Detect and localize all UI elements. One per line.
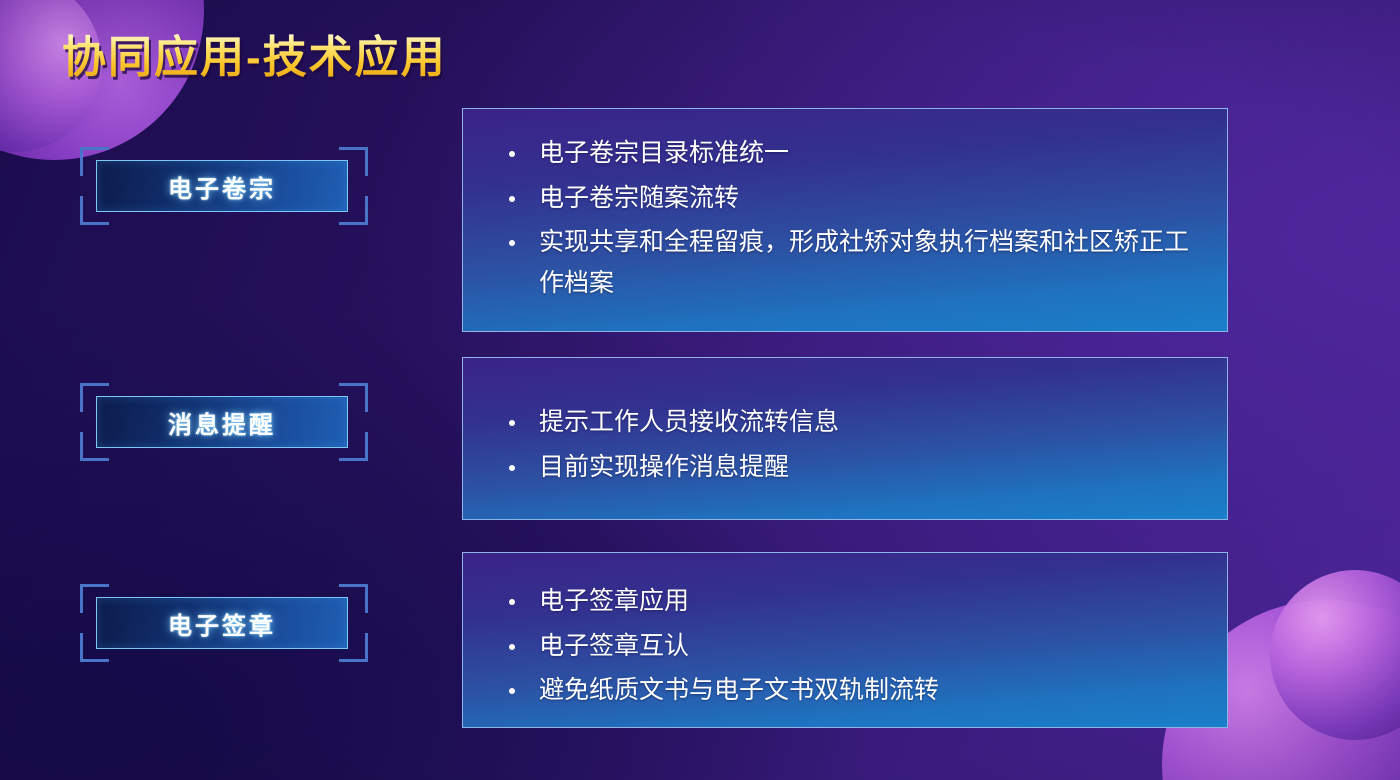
list-item: 避免纸质文书与电子文书双轨制流转	[503, 670, 1193, 711]
list-item: 实现共享和全程留痕，形成社矫对象执行档案和社区矫正工作档案	[503, 222, 1193, 303]
section-label-box: 消息提醒	[96, 396, 348, 448]
list-item: 电子签章互认	[503, 626, 1193, 667]
bullet-list: 提示工作人员接收流转信息 目前实现操作消息提醒	[503, 402, 1193, 487]
list-item: 电子签章应用	[503, 581, 1193, 622]
list-item: 电子卷宗目录标准统一	[503, 133, 1193, 174]
section-label-text: 电子卷宗	[168, 169, 276, 204]
bullet-list: 电子卷宗目录标准统一 电子卷宗随案流转 实现共享和全程留痕，形成社矫对象执行档案…	[503, 133, 1193, 303]
section-label-text: 电子签章	[168, 606, 276, 641]
list-item: 提示工作人员接收流转信息	[503, 402, 1193, 443]
section-label-electronic-dossier[interactable]: 电子卷宗	[80, 147, 368, 225]
content-panel: 提示工作人员接收流转信息 目前实现操作消息提醒	[462, 357, 1228, 520]
bullet-list: 电子签章应用 电子签章互认 避免纸质文书与电子文书双轨制流转	[503, 581, 1193, 711]
section-label-text: 消息提醒	[168, 405, 276, 440]
slide-title: 协同应用-技术应用	[62, 34, 447, 82]
list-item: 目前实现操作消息提醒	[503, 447, 1193, 488]
section-label-box: 电子签章	[96, 597, 348, 649]
section-label-message-reminder[interactable]: 消息提醒	[80, 383, 368, 461]
slide-canvas: 协同应用-技术应用 电子卷宗 电子卷宗目录标准统一 电子卷宗随案流转 实现共享和…	[0, 0, 1400, 780]
content-panel: 电子签章应用 电子签章互认 避免纸质文书与电子文书双轨制流转	[462, 552, 1228, 728]
section-label-electronic-seal[interactable]: 电子签章	[80, 584, 368, 662]
content-row: 消息提醒 提示工作人员接收流转信息 目前实现操作消息提醒	[0, 357, 1400, 520]
content-row: 电子签章 电子签章应用 电子签章互认 避免纸质文书与电子文书双轨制流转	[0, 552, 1400, 728]
list-item: 电子卷宗随案流转	[503, 178, 1193, 219]
section-label-box: 电子卷宗	[96, 160, 348, 212]
content-row: 电子卷宗 电子卷宗目录标准统一 电子卷宗随案流转 实现共享和全程留痕，形成社矫对…	[0, 108, 1400, 332]
content-panel: 电子卷宗目录标准统一 电子卷宗随案流转 实现共享和全程留痕，形成社矫对象执行档案…	[462, 108, 1228, 332]
